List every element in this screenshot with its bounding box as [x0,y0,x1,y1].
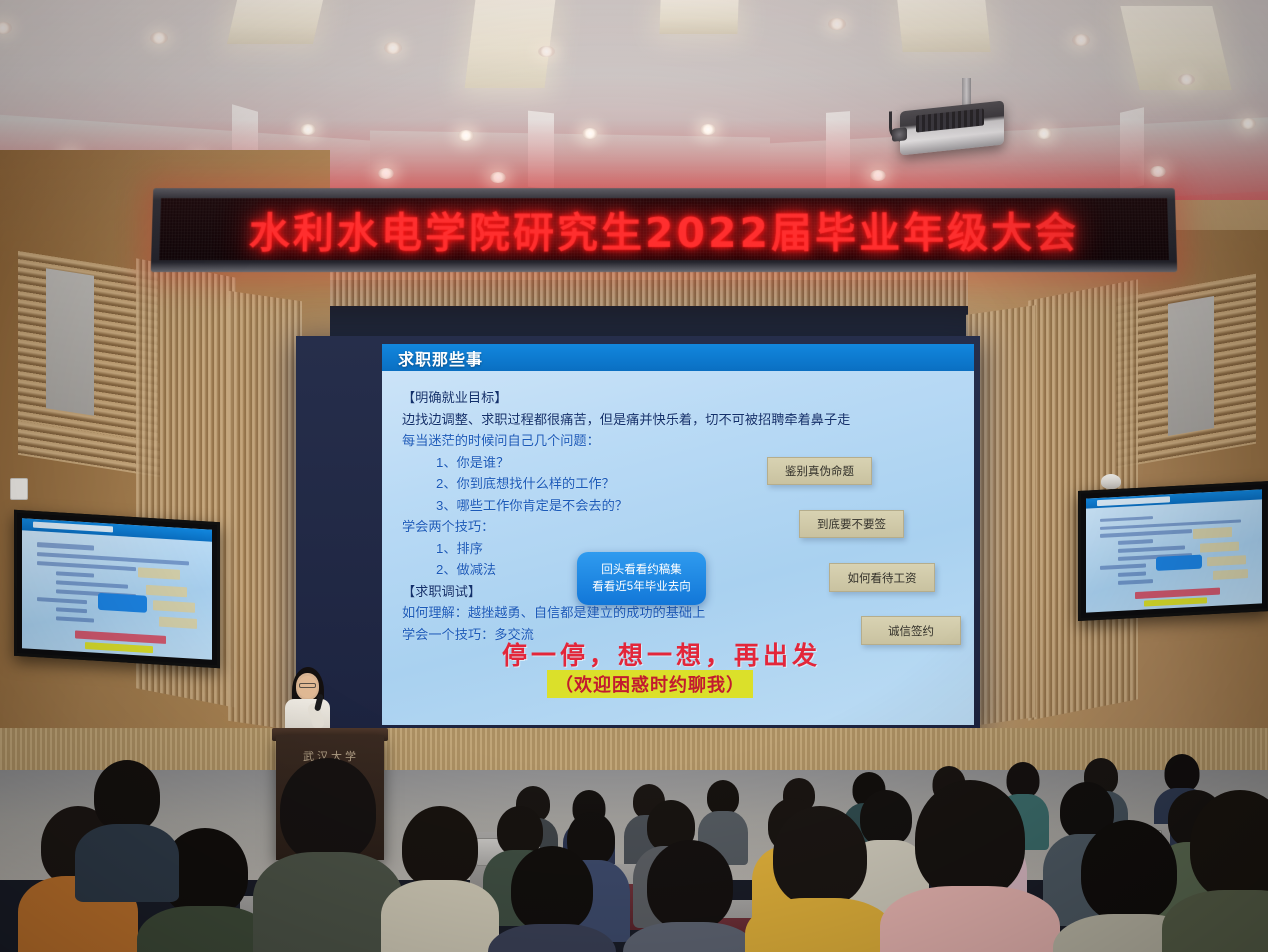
downlight-15 [1178,74,1195,85]
downlight-9 [490,172,506,183]
ceiling-panel-light-5 [1120,6,1231,90]
head [94,760,160,832]
slide-header: 求职那些事 [382,344,974,371]
downlight-3 [384,42,402,54]
head [402,806,478,888]
audience-person [268,758,388,952]
downlight-16 [1240,118,1256,129]
mini-red-line [1135,587,1219,598]
ceiling-panel-light-3 [659,0,738,34]
slide-surface: 求职那些事 【明确就业目标】 边找边调整、求职过程都很痛苦，但是痛并快乐着，切不… [382,344,974,725]
right-monitor-title-glyph [1097,496,1171,506]
left-monitor-header [22,518,212,541]
mini-line [1118,546,1185,553]
mini-line [1118,579,1153,584]
blue-callout-line-2: 看看近5年毕业去向 [592,579,690,596]
mini-callout [1193,527,1232,538]
head [1190,790,1268,900]
torso [880,886,1060,952]
head [707,780,739,815]
mini-line [56,616,94,622]
downlight-2 [150,32,168,44]
ceiling-panel-light-2 [465,0,556,88]
downlight-13 [828,18,846,30]
right-acoustic-panel [1168,296,1214,436]
slide-callout-1: 鉴别真伪命题 [767,457,872,485]
mini-blue-callout [1156,554,1202,571]
slide-line-5: 2、你到底想找什么样的工作？ [402,473,960,495]
slide-callout-2: 到底要不要签 [799,510,904,538]
downlight-17 [1036,128,1052,139]
mini-line [37,561,136,571]
wall-sensor [10,478,28,500]
torso [488,924,616,952]
audience-person [500,846,604,952]
head [647,840,733,930]
audience-person [1180,790,1268,952]
downlight-18 [870,170,886,181]
torso [745,898,895,952]
head [773,806,867,906]
slide-highlight-note: （欢迎困惑时约聊我） [547,670,753,698]
torso [75,824,179,902]
dome-camera-icon [1101,474,1121,489]
mini-line [1100,516,1153,522]
downlight-5 [300,124,316,135]
glasses-icon [299,683,316,688]
projector-lens-icon [892,127,907,142]
audience-person [392,806,488,952]
mini-line [1100,530,1192,538]
mini-line [1118,540,1153,545]
audience-person [760,806,880,952]
mini-highlight [85,642,153,653]
ceiling-panel-light-1 [227,0,323,44]
mini-highlight [1144,597,1207,607]
mini-callout [1200,542,1239,553]
right-monitor [1078,481,1268,621]
right-monitor-screen [1086,489,1262,612]
audience-person [636,840,744,952]
slide-title: 求职那些事 [398,346,483,370]
led-banner: 水利水电学院研究生2022届毕业年级大会 [151,188,1178,272]
mini-callout [138,567,180,580]
mini-callout [146,584,188,597]
blue-callout-line-1: 回头看看约稿集 [601,562,682,579]
projection-screen: 求职那些事 【明确就业目标】 边找边调整、求职过程都很痛苦，但是痛并快乐着，切不… [296,336,980,728]
mini-line [56,580,128,589]
head [1165,754,1200,792]
mini-line [1100,564,1146,570]
head [280,758,376,862]
head [915,780,1025,898]
downlight-19 [1150,166,1166,177]
slide-line-1: 【明确就业目标】 [402,387,960,409]
mini-callout [159,616,197,629]
slide-line-4: 1、你是谁？ [402,452,960,474]
slide-line-2: 边找边调整、求职过程都很痛苦，但是痛并快乐着，切不可被招聘牵着鼻子走 [402,409,960,431]
downlight-11 [582,128,598,139]
led-banner-text: 水利水电学院研究生2022届毕业年级大会 [159,199,1169,259]
slide-blue-callout: 回头看看约稿集 看看近5年毕业去向 [577,552,706,605]
mini-callout [153,600,195,613]
mini-line [1118,572,1146,577]
left-acoustic-panel [46,268,94,416]
mini-callout [1213,569,1248,580]
mini-line [56,607,86,613]
torso [381,880,499,952]
audience-person [900,780,1040,952]
torso [623,922,757,952]
audience-person [84,760,170,890]
downlight-12 [700,124,716,135]
head [1081,820,1177,922]
ceiling-panel-light-4 [897,0,990,52]
right-monitor-header [1086,489,1262,508]
slide-line-3: 每当迷茫的时候问自己几个问题： [402,430,960,452]
head [511,846,593,932]
mini-line [37,543,94,551]
led-banner-face: 水利水电学院研究生2022届毕业年级大会 [159,198,1169,260]
lecture-hall-photo: 水利水电学院研究生2022届毕业年级大会 求职那些事 【明确就业目标】 边找边调… [0,0,1268,952]
downlight-10 [458,130,474,141]
mini-callout [1207,555,1246,566]
mini-line [56,571,94,577]
left-monitor [14,510,220,669]
downlight-4 [538,46,555,57]
left-wall-column [228,291,302,731]
mini-line [37,597,86,604]
downlight-14 [1072,34,1090,46]
mini-blue-callout [98,593,147,613]
left-monitor-title-glyph [33,521,113,532]
slide-callout-3: 如何看待工资 [829,563,935,592]
slide-red-emphasis: 停一停，想一想，再出发 [502,636,922,672]
downlight-8 [378,168,394,179]
left-monitor-screen [22,518,212,660]
